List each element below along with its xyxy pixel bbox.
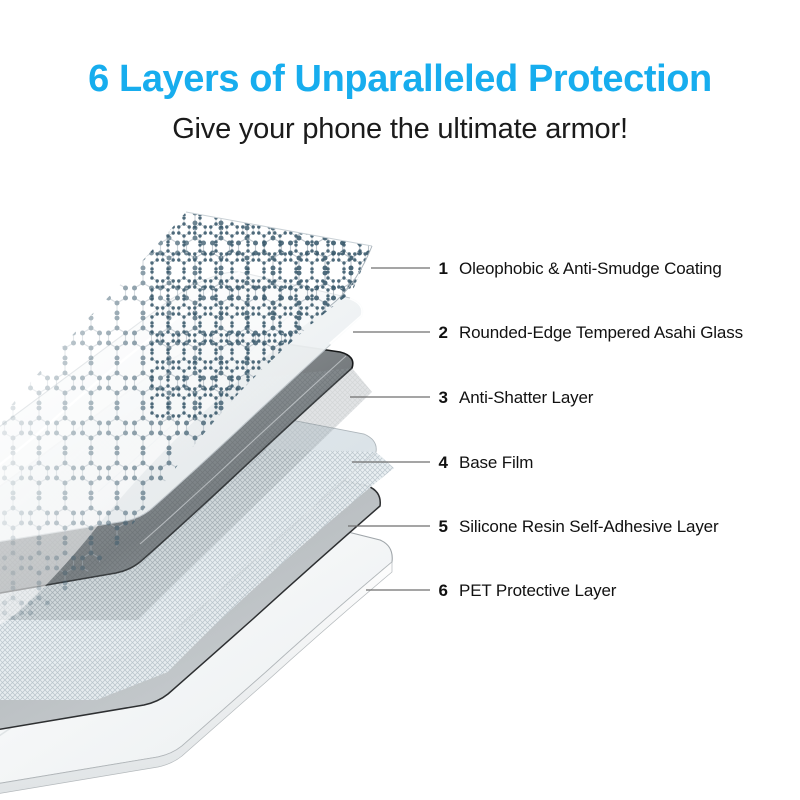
callout-4-number: 4 [426,453,448,473]
exploded-layer-diagram [0,0,800,800]
callout-5-label: Silicone Resin Self-Adhesive Layer [459,517,718,537]
callout-2: 2 Rounded-Edge Tempered Asahi Glass [426,321,743,345]
callout-6-number: 6 [426,581,448,601]
callout-1: 1 Oleophobic & Anti-Smudge Coating [426,257,722,281]
callout-5: 5 Silicone Resin Self-Adhesive Layer [426,515,718,539]
callout-6-label: PET Protective Layer [459,581,616,601]
callout-5-number: 5 [426,517,448,537]
callout-2-label: Rounded-Edge Tempered Asahi Glass [459,323,743,343]
callout-1-number: 1 [426,259,448,279]
infographic-canvas: 6 Layers of Unparalleled Protection Give… [0,0,800,800]
callout-3-label: Anti-Shatter Layer [459,388,593,408]
callout-3: 3 Anti-Shatter Layer [426,386,593,410]
callout-3-number: 3 [426,388,448,408]
callout-6: 6 PET Protective Layer [426,579,616,603]
callout-2-number: 2 [426,323,448,343]
callout-4-label: Base Film [459,453,533,473]
callout-4: 4 Base Film [426,451,533,475]
callout-1-label: Oleophobic & Anti-Smudge Coating [459,259,722,279]
